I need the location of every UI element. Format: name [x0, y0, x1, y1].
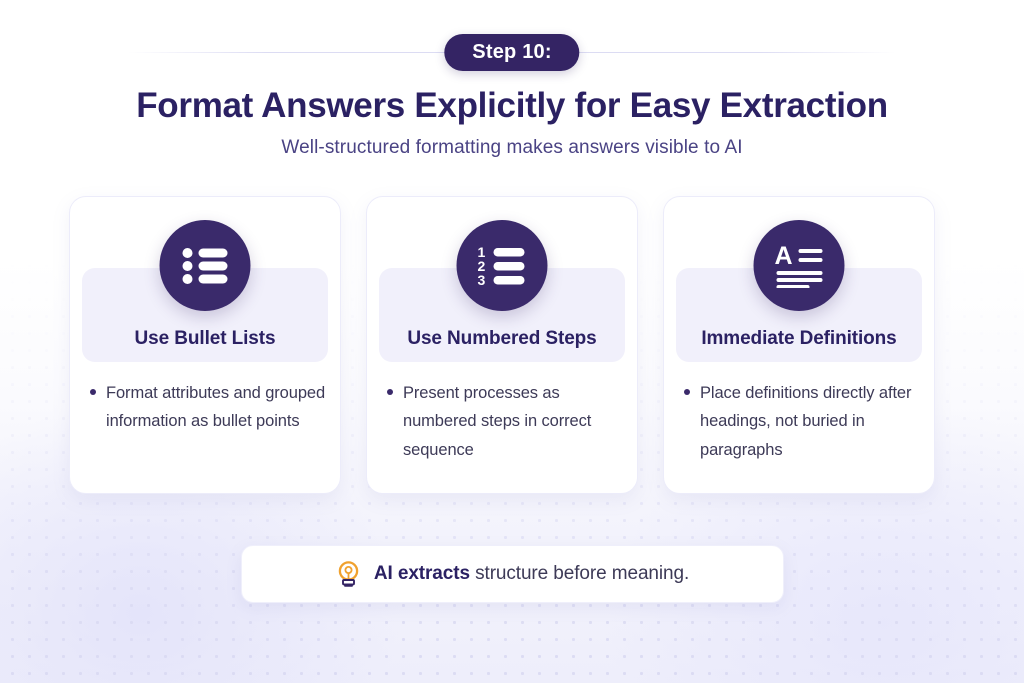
card-use-numbered-steps: 1 2 3 Use Numbered Steps Present process…	[366, 196, 638, 494]
card-heading: Immediate Definitions	[676, 328, 922, 350]
numbered-list-icon: 1 2 3	[457, 220, 548, 311]
svg-text:A: A	[774, 244, 792, 270]
bullet-item: Format attributes and grouped informatio…	[90, 379, 326, 436]
bullet-item: Present processes as numbered steps in c…	[387, 379, 623, 464]
infographic-slide: Step 10: Format Answers Explicitly for E…	[0, 0, 1024, 683]
card-body: Present processes as numbered steps in c…	[387, 379, 623, 464]
bullet-point-icon	[684, 389, 690, 395]
svg-text:3: 3	[477, 272, 485, 287]
card-immediate-definitions: A Immediate Definitions Place definition…	[663, 196, 935, 494]
callout-text-rest: structure before meaning.	[470, 563, 689, 584]
definition-text-icon: A	[754, 220, 845, 311]
callout-text: AI extracts structure before meaning.	[374, 563, 689, 585]
bullet-point-icon	[387, 389, 393, 395]
card-heading: Use Bullet Lists	[82, 328, 328, 350]
bullet-point-icon	[90, 389, 96, 395]
card-body: Place definitions directly after heading…	[684, 379, 920, 464]
card-body: Format attributes and grouped informatio…	[90, 379, 326, 436]
step-badge: Step 10:	[444, 34, 579, 71]
page-title: Format Answers Explicitly for Easy Extra…	[0, 86, 1024, 125]
bullet-text: Format attributes and grouped informatio…	[106, 379, 326, 436]
bullet-item: Place definitions directly after heading…	[684, 379, 920, 464]
bullet-list-icon	[160, 220, 251, 311]
page-subtitle: Well-structured formatting makes answers…	[0, 137, 1024, 159]
callout-text-bold: AI extracts	[374, 563, 470, 584]
footer-callout: AI extracts structure before meaning.	[241, 545, 784, 603]
card-use-bullet-lists: Use Bullet Lists Format attributes and g…	[69, 196, 341, 494]
bullet-text: Present processes as numbered steps in c…	[403, 379, 623, 464]
lightbulb-icon	[336, 560, 361, 588]
bullet-text: Place definitions directly after heading…	[700, 379, 920, 464]
card-grid: Use Bullet Lists Format attributes and g…	[69, 196, 955, 494]
card-heading: Use Numbered Steps	[379, 328, 625, 350]
